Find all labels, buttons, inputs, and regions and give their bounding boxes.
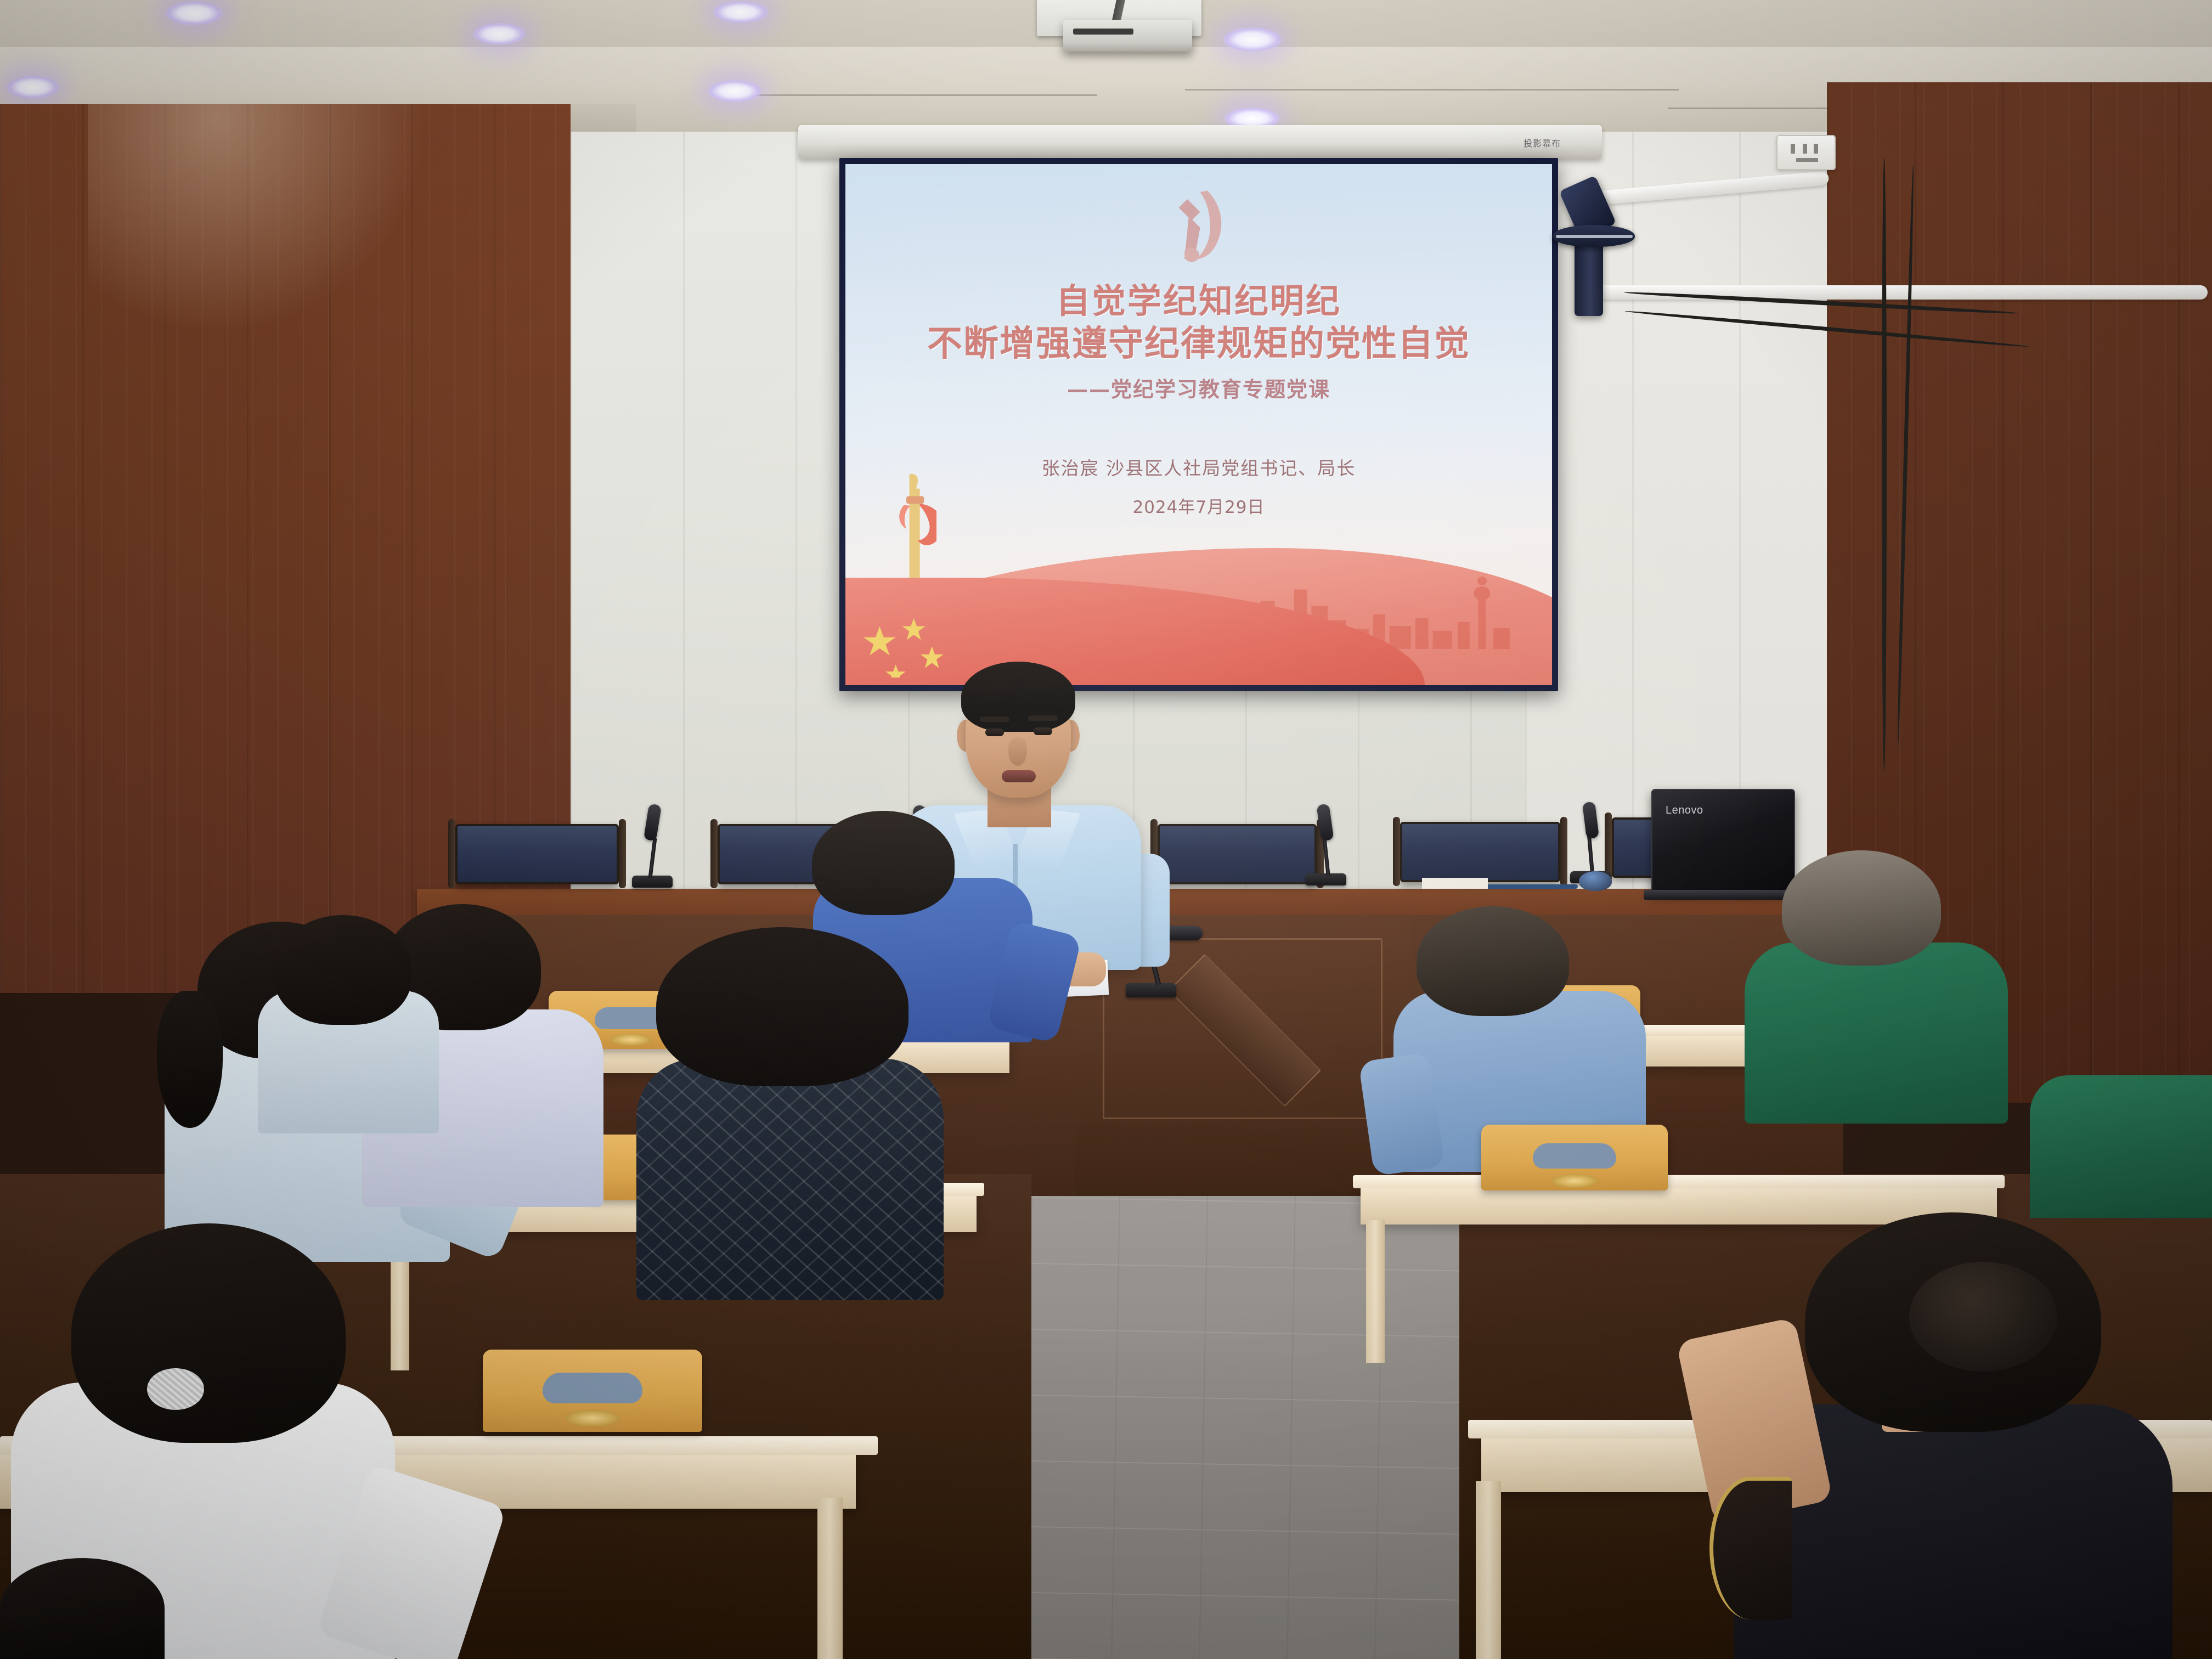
slide-presenter: 张治宸 沙县区人社局党组书记、局长 bbox=[845, 454, 1552, 480]
handbag[interactable] bbox=[1709, 1477, 1792, 1620]
person-hair bbox=[656, 927, 909, 1086]
ceiling-downlight bbox=[713, 1, 768, 23]
person-hair bbox=[274, 915, 411, 1025]
camera-stripe bbox=[1556, 235, 1633, 238]
ceiling-downlight bbox=[1223, 27, 1282, 52]
microphone-base bbox=[1126, 983, 1176, 997]
presenter-hair bbox=[961, 662, 1075, 732]
ceiling-seam bbox=[1185, 89, 1679, 91]
dais-diamond-carving bbox=[1169, 954, 1321, 1107]
dais-chair[interactable] bbox=[1158, 824, 1317, 884]
chair-backrest-slot bbox=[1533, 1143, 1616, 1169]
desk-leg bbox=[1366, 1220, 1385, 1363]
dais-chair[interactable] bbox=[455, 824, 619, 884]
person-ponytail bbox=[157, 991, 223, 1128]
chinese-flag-stars-graphic bbox=[860, 617, 964, 678]
desk-leg bbox=[1476, 1481, 1501, 1659]
presenter-nose bbox=[1008, 737, 1027, 766]
person-hair-tie bbox=[147, 1368, 204, 1410]
ceiling-projector bbox=[1063, 20, 1192, 52]
projection-screen-case: 投影幕布 bbox=[798, 125, 1602, 159]
hanging-cable bbox=[1882, 157, 1887, 771]
chair-medallion bbox=[565, 1410, 620, 1426]
microphone-base bbox=[632, 876, 673, 888]
presenter-brow-right bbox=[1028, 715, 1058, 721]
wall-light-glow bbox=[88, 104, 428, 335]
presenter-brow-left bbox=[980, 716, 1009, 722]
ceiling-downlight bbox=[708, 80, 761, 102]
slide-title-line1: 自觉学纪知纪明纪 bbox=[845, 280, 1552, 323]
wall-conduit bbox=[1593, 285, 2208, 300]
power-outlet[interactable] bbox=[1776, 135, 1836, 170]
person-hair bbox=[0, 1558, 165, 1659]
lenovo-laptop[interactable]: Lenovo bbox=[1651, 789, 1795, 893]
chair-medallion bbox=[1551, 1174, 1598, 1188]
person-hair bbox=[1417, 906, 1569, 1016]
slide-title: 自觉学纪知纪明纪 不断增强遵守纪律规矩的党性自觉 bbox=[845, 280, 1552, 366]
conference-room-scene: 投影幕布 自觉学纪知纪明纪 不断增强遵守纪律规矩的党性自觉 ——党纪学习教育专题… bbox=[0, 0, 2212, 1659]
ceiling-downlight bbox=[166, 1, 223, 25]
laptop-base bbox=[1644, 890, 1804, 900]
desk-item-paper bbox=[1422, 878, 1488, 889]
slide-subtitle: ——党纪学习教育专题党课 bbox=[845, 373, 1552, 403]
center-aisle-floor bbox=[1031, 1196, 1459, 1659]
screen-case-label: 投影幕布 bbox=[1523, 136, 1561, 149]
presenter-eye-left bbox=[985, 729, 1004, 736]
hammer-sickle-icon bbox=[1163, 184, 1234, 272]
projector-vent bbox=[1073, 29, 1133, 35]
presenter-eye-right bbox=[1034, 727, 1052, 735]
laptop-brand-label: Lenovo bbox=[1666, 804, 1703, 817]
desk-item-mouse[interactable] bbox=[1579, 871, 1612, 891]
person-hair bbox=[71, 1223, 346, 1443]
presenter-mouth bbox=[1002, 770, 1036, 782]
ceiling-downlight bbox=[7, 76, 59, 99]
person-hair bbox=[812, 811, 955, 915]
slide-date: 2024年7月29日 bbox=[845, 493, 1552, 518]
audience-chair[interactable] bbox=[1481, 1125, 1668, 1190]
ceiling-downlight bbox=[473, 23, 526, 45]
slide-title-line2: 不断增强遵守纪律规矩的党性自觉 bbox=[845, 323, 1552, 366]
presentation-slide: 自觉学纪知纪明纪 不断增强遵守纪律规矩的党性自觉 ——党纪学习教育专题党课 张治… bbox=[845, 164, 1552, 685]
ceiling-seam bbox=[713, 94, 1097, 96]
projection-screen-frame: 自觉学纪知纪明纪 不断增强遵守纪律规矩的党性自觉 ——党纪学习教育专题党课 张治… bbox=[839, 158, 1558, 691]
person-torso bbox=[1745, 943, 2008, 1124]
audience-chair[interactable] bbox=[483, 1350, 702, 1432]
desk-leg bbox=[817, 1498, 843, 1659]
person-hair-bun bbox=[1909, 1262, 2057, 1372]
audience-desk-edge bbox=[1353, 1175, 2005, 1188]
chair-medallion bbox=[611, 1034, 651, 1046]
dais-chair[interactable] bbox=[1400, 822, 1560, 882]
audience-desk bbox=[1361, 1183, 1997, 1224]
audience-person-partial bbox=[2030, 1075, 2212, 1218]
chair-backrest-slot bbox=[543, 1373, 642, 1403]
person-torso bbox=[636, 1059, 944, 1300]
person-hair bbox=[1782, 850, 1941, 966]
